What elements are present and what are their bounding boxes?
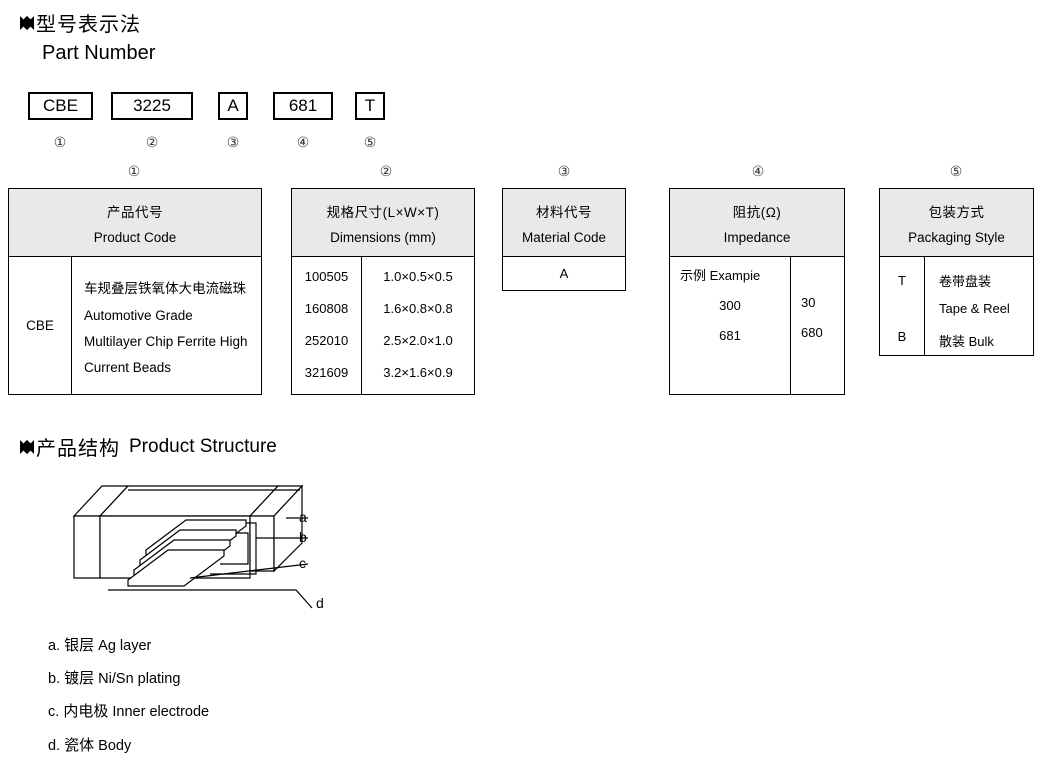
dimensions-size-column: 1.0×0.5×0.5 1.6×0.8×0.8 2.5×2.0×1.0 3.2×… <box>361 257 474 394</box>
table-material-code-value: A <box>503 257 625 290</box>
leader-line-d <box>108 590 312 608</box>
table-row: 680 <box>801 325 844 343</box>
table-impedance-header: 阻抗(Ω) Impedance <box>670 189 844 257</box>
packaging-desc-line: 卷带盘装 <box>939 271 1033 289</box>
legend-cn-b: 镀层 <box>64 670 94 687</box>
table-row: 321609 <box>292 362 361 382</box>
table-impedance-header-cn: 阻抗(Ω) <box>733 201 782 221</box>
table-row: 1.6×0.8×0.8 <box>362 298 474 318</box>
legend-item-b: b. 镀层 Ni/Sn plating <box>48 667 180 688</box>
legend-en-d: Body <box>98 738 131 754</box>
table-row: 100505 <box>292 266 361 286</box>
impedance-code-column: 示例 Exampie 300 681 <box>670 257 790 394</box>
table-material-code: 材料代号 Material Code A <box>502 188 626 291</box>
legend-en-c: Inner electrode <box>112 704 209 720</box>
part-code-marker-3: ③ <box>218 134 248 151</box>
impedance-example-label: 示例 Exampie <box>670 265 790 284</box>
table-product-code-header: 产品代号 Product Code <box>9 189 261 257</box>
product-structure-diagram <box>60 468 350 623</box>
legend-cn-a: 银层 <box>64 637 94 654</box>
table-marker-5: ⑤ <box>941 163 971 180</box>
table-row: 681 <box>670 326 790 344</box>
legend-cn-c: 内电极 <box>63 703 108 720</box>
legend-item-a: a. 银层 Ag layer <box>48 634 151 655</box>
table-packaging-header-cn: 包装方式 <box>929 201 985 221</box>
structure-label-a: a <box>299 509 307 525</box>
product-code-desc-line: 车规叠层铁氧体大电流磁珠 <box>84 277 261 297</box>
table-row: 2.5×2.0×1.0 <box>362 330 474 350</box>
table-row: 3.2×1.6×0.9 <box>362 362 474 382</box>
table-row: 252010 <box>292 330 361 350</box>
part-code-marker-5: ⑤ <box>355 134 385 151</box>
legend-key-c: c. <box>48 704 59 720</box>
legend-en-b: Ni/Sn plating <box>98 671 180 687</box>
structure-label-b: b <box>299 529 307 545</box>
table-marker-1: ① <box>119 163 149 180</box>
table-dimensions-header-en: Dimensions (mm) <box>330 230 436 245</box>
legend-item-c: c. 内电极 Inner electrode <box>48 700 209 721</box>
table-dimensions-header-cn: 规格尺寸(L×W×T) <box>327 201 440 221</box>
table-row: 1.0×0.5×0.5 <box>362 266 474 286</box>
legend-key-a: a. <box>48 638 60 654</box>
legend-item-d: d. 瓷体 Body <box>48 734 131 755</box>
table-product-code-header-cn: 产品代号 <box>107 201 163 221</box>
left-cap-front-face <box>74 516 100 578</box>
table-row: 160808 <box>292 298 361 318</box>
packaging-desc-column: 卷带盘装 Tape & Reel 散装 Bulk <box>924 257 1033 355</box>
product-structure-title-en: Product Structure <box>129 436 277 458</box>
product-code-desc-line: Multilayer Chip Ferrite High <box>84 334 261 349</box>
part-code-marker-1: ① <box>45 134 75 151</box>
table-packaging: 包装方式 Packaging Style T B 卷带盘装 Tape & Ree… <box>879 188 1034 356</box>
part-code-marker-2: ② <box>137 134 167 151</box>
legend-key-d: d. <box>48 738 60 754</box>
table-product-code-code: CBE <box>9 257 71 394</box>
packaging-code-column: T B <box>880 257 924 355</box>
part-code-box-4[interactable]: 681 <box>273 92 333 120</box>
table-product-code: 产品代号 Product Code CBE 车规叠层铁氧体大电流磁珠 Autom… <box>8 188 262 395</box>
right-cap-front-face <box>250 516 274 571</box>
table-material-code-header-cn: 材料代号 <box>536 201 592 221</box>
dimensions-code-column: 100505 160808 252010 321609 <box>292 257 361 394</box>
table-product-code-header-en: Product Code <box>94 230 177 245</box>
table-impedance: 阻抗(Ω) Impedance 示例 Exampie 300 681 30 68… <box>669 188 845 395</box>
packaging-desc-line: 散装 Bulk <box>939 331 1033 349</box>
table-dimensions-header: 规格尺寸(L×W×T) Dimensions (mm) <box>292 189 474 257</box>
impedance-spacer <box>801 265 844 283</box>
table-product-code-body: CBE 车规叠层铁氧体大电流磁珠 Automotive Grade Multil… <box>9 257 261 394</box>
table-material-code-header-en: Material Code <box>522 230 606 245</box>
part-number-title-en: Part Number <box>42 42 155 65</box>
product-structure-title-cn: 产品结构 <box>36 432 120 461</box>
part-number-title-cn: 型号表示法 <box>36 8 141 37</box>
product-code-desc-line: Current Beads <box>84 360 261 375</box>
table-packaging-header-en: Packaging Style <box>908 230 1005 245</box>
product-code-desc-line: Automotive Grade <box>84 308 261 323</box>
table-packaging-body: T B 卷带盘装 Tape & Reel 散装 Bulk <box>880 257 1033 355</box>
table-dimensions: 规格尺寸(L×W×T) Dimensions (mm) 100505 16080… <box>291 188 475 395</box>
table-marker-3: ③ <box>549 163 579 180</box>
structure-label-c: c <box>299 555 306 571</box>
table-row: 300 <box>670 296 790 314</box>
structure-label-d: d <box>316 595 324 611</box>
part-code-box-3[interactable]: A <box>218 92 248 120</box>
table-dimensions-body: 100505 160808 252010 321609 1.0×0.5×0.5 … <box>292 257 474 394</box>
legend-en-a: Ag layer <box>98 638 151 654</box>
legend-cn-d: 瓷体 <box>64 737 94 754</box>
product-structure-heading: 产品结构 Product Structure <box>20 432 277 461</box>
table-row: 30 <box>801 295 844 313</box>
legend-key-b: b. <box>48 671 60 687</box>
table-row: T <box>880 271 924 289</box>
diamond-bullet-icon <box>20 16 34 30</box>
packaging-desc-line: Tape & Reel <box>939 301 1033 319</box>
part-code-box-5[interactable]: T <box>355 92 385 120</box>
table-impedance-body: 示例 Exampie 300 681 30 680 <box>670 257 844 394</box>
diamond-bullet-icon <box>20 440 34 454</box>
table-material-code-header: 材料代号 Material Code <box>503 189 625 257</box>
table-impedance-header-en: Impedance <box>724 230 791 245</box>
part-code-box-2[interactable]: 3225 <box>111 92 193 120</box>
impedance-ohms-column: 30 680 <box>790 257 844 394</box>
part-number-heading: 型号表示法 <box>20 8 141 37</box>
table-row: B <box>880 327 924 345</box>
table-product-code-description: 车规叠层铁氧体大电流磁珠 Automotive Grade Multilayer… <box>71 257 261 394</box>
part-code-marker-4: ④ <box>288 134 318 151</box>
table-marker-4: ④ <box>743 163 773 180</box>
table-packaging-header: 包装方式 Packaging Style <box>880 189 1033 257</box>
table-marker-2: ② <box>371 163 401 180</box>
part-code-box-1[interactable]: CBE <box>28 92 93 120</box>
